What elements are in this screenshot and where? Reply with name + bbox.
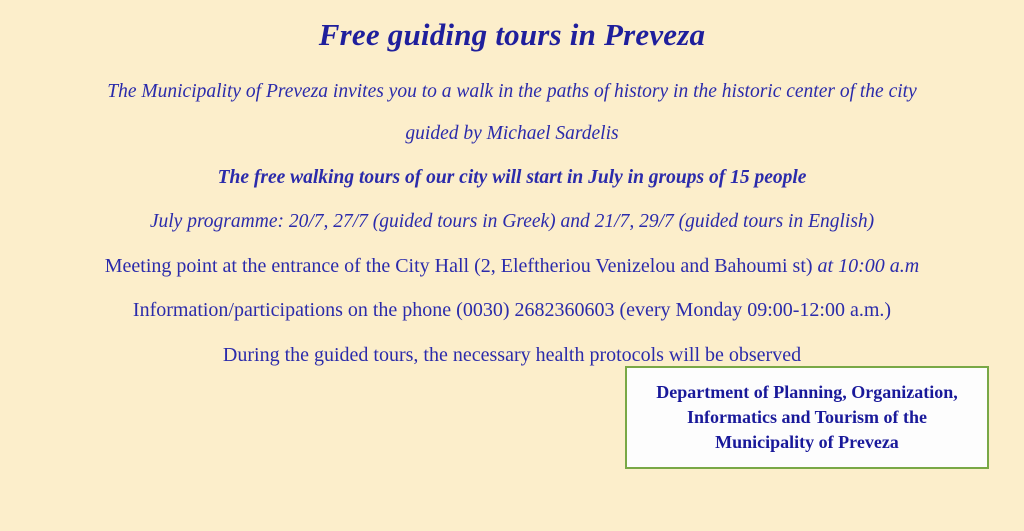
meeting-point-line: Meeting point at the entrance of the Cit… (0, 235, 1024, 279)
contact-phone-line: Information/participations on the phone … (0, 279, 1024, 323)
tour-start-line: The free walking tours of our city will … (0, 147, 1024, 190)
department-box: Department of Planning, Organization, In… (625, 366, 989, 469)
page-title: Free guiding tours in Preveza (0, 0, 1024, 52)
invitation-line: The Municipality of Preveza invites you … (0, 68, 1024, 104)
meeting-time-text: at 10:00 a.m (818, 255, 920, 277)
meeting-point-text: Meeting point at the entrance of the Cit… (105, 255, 818, 277)
health-protocols-line: During the guided tours, the necessary h… (0, 323, 1024, 368)
july-programme-line: July programme: 20/7, 27/7 (guided tours… (0, 190, 1024, 234)
announcement-body: The Municipality of Preveza invites you … (0, 68, 1024, 368)
department-label: Department of Planning, Organization, In… (627, 380, 987, 456)
announcement-page: Free guiding tours in Preveza The Munici… (0, 0, 1024, 531)
guide-name-line: guided by Michael Sardelis (0, 104, 1024, 146)
